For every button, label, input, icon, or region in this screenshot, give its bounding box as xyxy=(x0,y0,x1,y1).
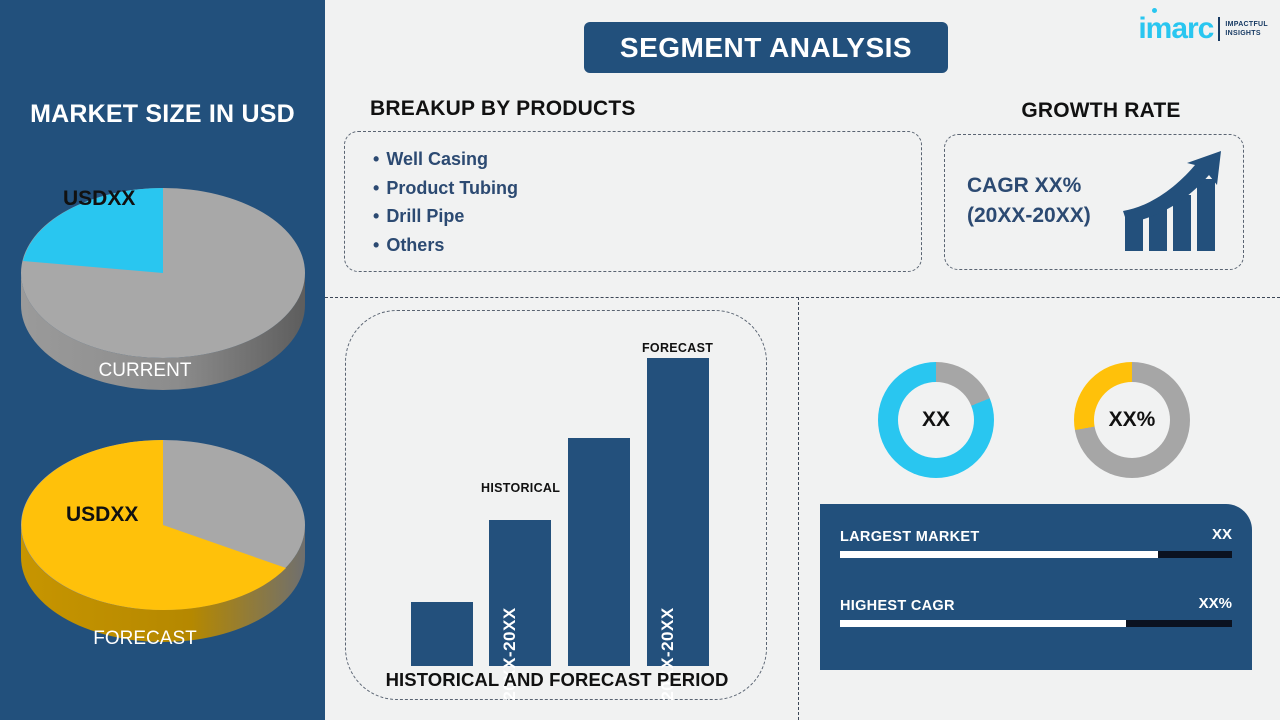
stat-progress-track xyxy=(840,620,1232,627)
bar-chart-area: 20XX-20XX HISTORICAL 20XX-20XX FORECAST … xyxy=(346,311,768,701)
bar-4: 20XX-20XX xyxy=(647,358,709,666)
sidebar-market-size: MARKET SIZE IN USD USDXX CU xyxy=(0,0,325,720)
cagr-text: CAGR XX% (20XX-20XX) xyxy=(967,171,1091,231)
donut-chart-right: XX% xyxy=(1074,362,1190,478)
pie-chart-forecast: USDXX xyxy=(18,425,308,660)
infographic-page: MARKET SIZE IN USD USDXX CU xyxy=(0,0,1280,720)
bar-chart-panel: 20XX-20XX HISTORICAL 20XX-20XX FORECAST … xyxy=(345,310,767,700)
stat-label: LARGEST MARKET xyxy=(840,529,980,545)
bar-3 xyxy=(568,438,630,666)
stat-progress-fill xyxy=(840,620,1126,627)
products-heading: BREAKUP BY PRODUCTS xyxy=(370,97,636,121)
donut-right-value: XX% xyxy=(1094,382,1170,458)
logo-tagline: IMPACTFUL INSIGHTS xyxy=(1225,20,1268,39)
bar-chart-caption: HISTORICAL AND FORECAST PERIOD xyxy=(346,669,768,691)
cagr-line2: (20XX-20XX) xyxy=(967,201,1091,231)
growth-panel: CAGR XX% (20XX-20XX) xyxy=(944,134,1244,270)
section-divider-horizontal xyxy=(325,297,1280,298)
list-item: Others xyxy=(373,231,921,260)
donut-left-value: XX xyxy=(898,382,974,458)
growth-heading: GROWTH RATE xyxy=(944,99,1258,123)
stat-progress-track xyxy=(840,551,1232,558)
growth-arrow-chart-icon xyxy=(1121,149,1231,257)
historical-tag: HISTORICAL xyxy=(481,481,560,495)
logo-divider xyxy=(1218,17,1220,41)
list-item: Product Tubing xyxy=(373,174,921,203)
logo-wordmark: imarc xyxy=(1138,14,1213,44)
list-item: Drill Pipe xyxy=(373,202,921,231)
products-list: Well Casing Product Tubing Drill Pipe Ot… xyxy=(345,132,921,259)
pie-forecast-caption: FORECAST xyxy=(0,628,290,650)
forecast-tag: FORECAST xyxy=(642,341,713,355)
pie-forecast-svg xyxy=(18,425,308,660)
imarc-logo: imarc IMPACTFUL INSIGHTS xyxy=(1138,12,1268,46)
pie-current-caption: CURRENT xyxy=(0,360,290,382)
market-highlights-panel: LARGEST MARKET XX HIGHEST CAGR XX% xyxy=(820,504,1252,670)
pie-current-svg xyxy=(18,155,308,390)
stat-value: XX% xyxy=(1199,595,1232,612)
stat-progress-fill xyxy=(840,551,1158,558)
bar-1 xyxy=(411,602,473,666)
products-panel: Well Casing Product Tubing Drill Pipe Ot… xyxy=(344,131,922,272)
list-item: Well Casing xyxy=(373,145,921,174)
logo-tagline-line1: IMPACTFUL xyxy=(1225,20,1268,29)
bar-2: 20XX-20XX xyxy=(489,520,551,666)
page-title: SEGMENT ANALYSIS xyxy=(584,22,948,73)
stat-value: XX xyxy=(1212,526,1232,543)
pie-chart-current: USDXX xyxy=(18,155,308,390)
donut-chart-left: XX xyxy=(878,362,994,478)
pie-current-slice-value xyxy=(23,188,163,273)
logo-dot-icon xyxy=(1152,8,1157,13)
cagr-line1: CAGR XX% xyxy=(967,171,1091,201)
logo-tagline-line2: INSIGHTS xyxy=(1225,29,1268,38)
stat-label: HIGHEST CAGR xyxy=(840,598,955,614)
sidebar-title: MARKET SIZE IN USD xyxy=(0,100,325,129)
section-divider-vertical xyxy=(798,297,799,720)
